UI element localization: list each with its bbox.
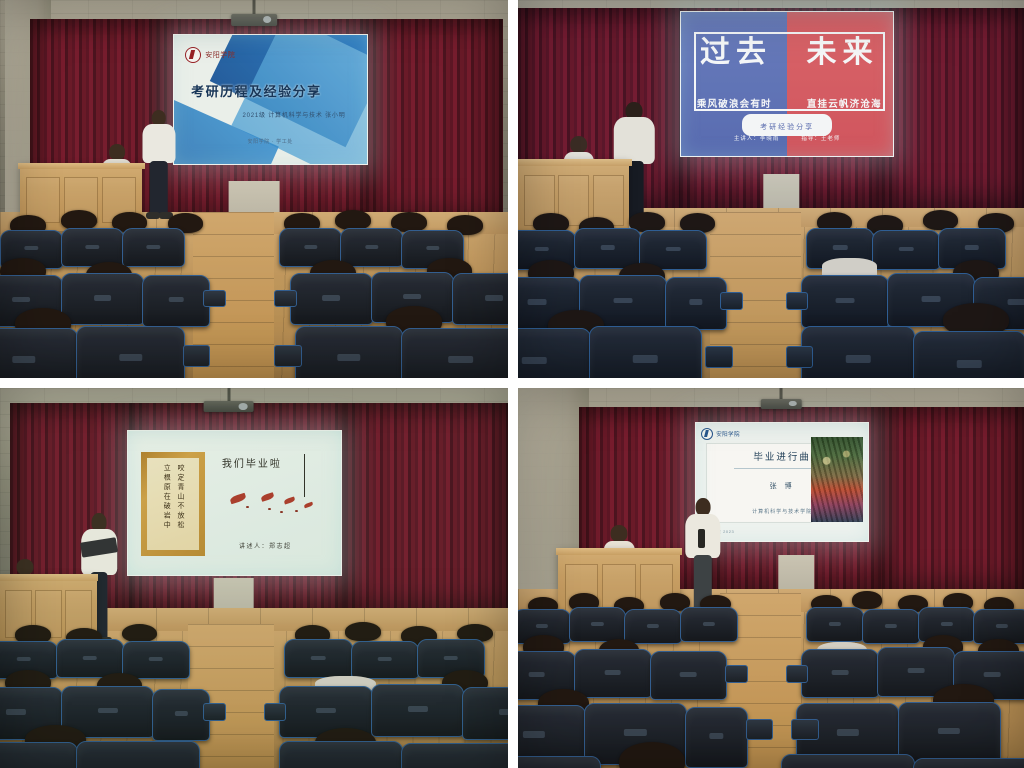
panel-top-left[interactable]: 安阳学院 考研历程及经验分享 2021级 计算机科学与技术 张小明 安阳学院 ·… (0, 0, 508, 378)
seat (685, 707, 748, 768)
slide-author: 讲述人：郑志超 (239, 541, 292, 550)
projection-screen[interactable]: 安阳学院 毕业进行曲 张 博 计算机科学与技术学院 安阳学院 2023 (695, 422, 869, 542)
seat (152, 689, 210, 742)
slide-content: 安阳学院 考研历程及经验分享 2021级 计算机科学与技术 张小明 安阳学院 ·… (174, 35, 367, 164)
slide-title: 考研历程及经验分享 (191, 81, 322, 100)
auditorium-scene: 安阳学院 毕业进行曲 张 博 计算机科学与技术学院 安阳学院 2023 (518, 388, 1024, 768)
seat (680, 607, 738, 642)
scroll-column-right: 咬定青山不放松 (175, 464, 184, 544)
seat (898, 702, 1001, 763)
slide-ribbon: 考研经验分享 (742, 114, 832, 136)
seat (589, 326, 702, 378)
seat (913, 758, 1024, 768)
microphone-icon (698, 529, 705, 548)
photo-collage: 安阳学院 考研历程及经验分享 2021级 计算机科学与技术 张小明 安阳学院 ·… (0, 0, 1024, 768)
stage-curtain-right (345, 403, 508, 623)
seat (574, 649, 652, 698)
seat (290, 273, 373, 325)
slide-footer: 安阳学院 · 学工处 (248, 138, 293, 145)
logo-mark-icon (701, 428, 713, 440)
seat (371, 684, 464, 737)
slide-content: 安阳学院 毕业进行曲 张 博 计算机科学与技术学院 安阳学院 2023 (696, 423, 868, 541)
auditorium-scene: 安阳学院 考研历程及经验分享 2021级 计算机科学与技术 张小明 安阳学院 ·… (0, 0, 508, 378)
seat (650, 651, 728, 700)
projection-screen[interactable]: 咬定青山不放松 立根原在破岩中 我们毕业啦 (127, 430, 342, 576)
auditorium-scene: 咬定青山不放松 立根原在破岩中 我们毕业啦 (0, 388, 508, 768)
seat (295, 326, 404, 378)
slide-line-left: 乘风破浪会有时 (697, 96, 772, 110)
slide-content: 过去 未来 乘风破浪会有时 直挂云帆济沧海 考研经验分享 主讲人：李晓雨 指导：… (681, 12, 894, 156)
seat (142, 275, 210, 327)
seat (122, 641, 190, 679)
scroll-column-left: 立根原在破岩中 (162, 464, 171, 544)
panel-bottom-left[interactable]: 咬定青山不放松 立根原在破岩中 我们毕业啦 (0, 388, 508, 768)
seat (61, 273, 144, 325)
audience-seating (518, 212, 1024, 378)
seat (122, 228, 185, 267)
slide-title: 毕业进行曲 (753, 449, 811, 463)
seat (76, 741, 200, 768)
logo-text: 安阳学院 (716, 430, 740, 438)
seat (56, 639, 124, 677)
logo-text: 安阳学院 (205, 50, 235, 60)
university-logo: 安阳学院 (701, 428, 740, 440)
seat (569, 607, 627, 642)
projector-icon (203, 401, 254, 412)
seat (462, 687, 508, 740)
seat (284, 639, 352, 677)
bird-ink-illustration (228, 493, 318, 516)
seat (76, 326, 185, 378)
seat (518, 756, 601, 768)
seat (0, 742, 78, 768)
presenter (142, 110, 175, 220)
slide-credits: 主讲人：李晓雨 指导：王老师 (734, 134, 841, 142)
seat (340, 228, 403, 267)
seat (452, 273, 508, 325)
slide-ribbon-text: 考研经验分享 (760, 124, 814, 131)
projection-screen[interactable]: 过去 未来 乘风破浪会有时 直挂云帆济沧海 考研经验分享 主讲人：李晓雨 指导：… (680, 11, 895, 157)
seat (781, 754, 915, 768)
seat (801, 275, 889, 329)
stage-curtain-right (882, 407, 1024, 605)
seat (913, 331, 1024, 378)
slide-department: 计算机科学与技术学院 (752, 508, 812, 515)
seat (801, 649, 879, 698)
seat (862, 609, 920, 644)
audience-seating (518, 593, 1024, 768)
seat (0, 328, 78, 378)
calligraphy-scroll: 咬定青山不放松 立根原在破岩中 (141, 452, 205, 556)
slide-subtitle: 2021级 计算机科学与技术 张小明 (242, 110, 345, 119)
credit-right: 指导：王老师 (801, 134, 840, 142)
seat (61, 228, 124, 267)
slide-word-future: 未来 (807, 38, 879, 68)
seat (574, 228, 642, 268)
seat (351, 641, 419, 679)
seat (401, 328, 508, 378)
stage-curtain-right (366, 19, 503, 234)
projector-icon (231, 14, 277, 26)
slide-line-right: 直挂云帆济沧海 (807, 96, 882, 110)
seat (518, 328, 591, 378)
slide-word-past: 过去 (700, 38, 772, 68)
university-logo: 安阳学院 (185, 47, 235, 63)
projector-icon (761, 399, 801, 409)
projection-screen[interactable]: 安阳学院 考研历程及经验分享 2021级 计算机科学与技术 张小明 安阳学院 ·… (173, 34, 368, 165)
slide-presenter-name: 张 博 (770, 481, 795, 491)
credit-left: 主讲人：李晓雨 (734, 134, 780, 142)
slide-content: 咬定青山不放松 立根原在破岩中 我们毕业啦 (128, 431, 341, 575)
seat (665, 277, 728, 331)
slide-photo (811, 437, 863, 522)
panel-bottom-right[interactable]: 安阳学院 毕业进行曲 张 博 计算机科学与技术学院 安阳学院 2023 (518, 388, 1024, 768)
logo-mark-icon (185, 47, 201, 63)
seat (624, 609, 682, 644)
audience-seating (0, 624, 508, 768)
stage-curtain-right (882, 8, 1024, 220)
panel-top-right[interactable]: 过去 未来 乘风破浪会有时 直挂云帆济沧海 考研经验分享 主讲人：李晓雨 指导：… (518, 0, 1024, 378)
auditorium-scene: 过去 未来 乘风破浪会有时 直挂云帆济沧海 考研经验分享 主讲人：李晓雨 指导：… (518, 0, 1024, 378)
seat (279, 741, 403, 768)
seat (801, 326, 914, 378)
audience-seating (0, 212, 508, 378)
seat (872, 230, 940, 270)
seat (401, 743, 508, 768)
slide-title: 我们毕业啦 (222, 455, 282, 470)
seat (806, 607, 864, 642)
